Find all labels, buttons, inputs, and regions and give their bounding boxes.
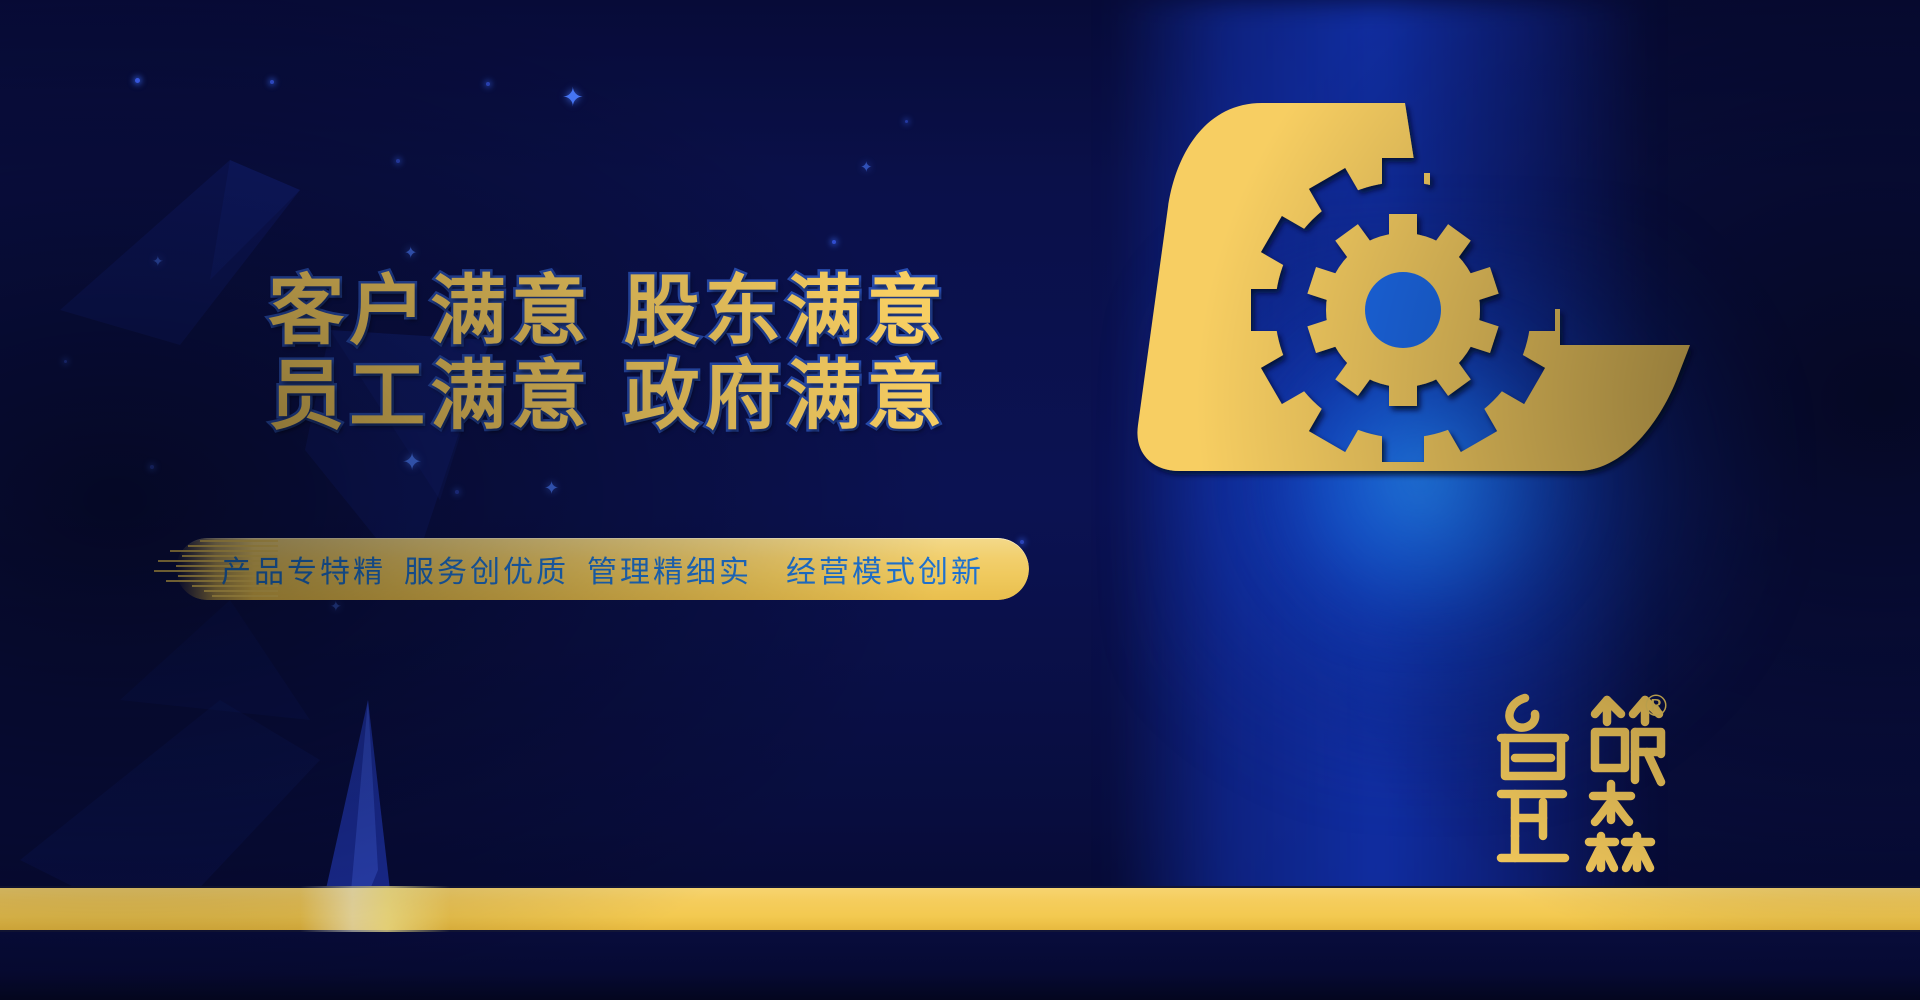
background-vignette	[0, 0, 1920, 1000]
corporate-banner: ✦ ✦ ✦ ✦ ✦ ✦ ✦ ✦ 客户满意 股东满意 员工满意 政府满意 产品专特…	[0, 0, 1920, 1000]
